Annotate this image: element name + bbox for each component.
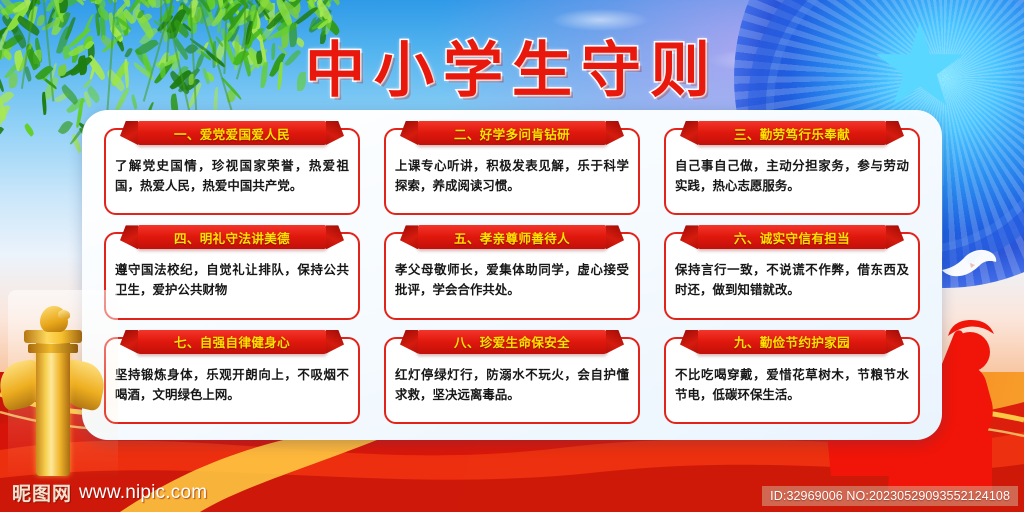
rule-heading: 三、勤劳笃行乐奉献: [734, 124, 850, 143]
watermark-logo: 昵图网: [12, 479, 72, 506]
rule-banner: 三、勤劳笃行乐奉献: [697, 121, 887, 145]
page-title: 中小学生守则: [0, 22, 1024, 109]
rule-body: 保持言行一致，不说谎不作弊，借东西及时还，做到知错就改。: [675, 260, 909, 300]
rule-banner: 九、勤俭节约护家园: [697, 330, 887, 354]
rule-body: 上课专心听讲，积极发表见解，乐于科学探索，养成阅读习惯。: [395, 156, 629, 196]
rule-card[interactable]: 九、勤俭节约护家园 不比吃喝穿戴，爱惜花草树木，节粮节水节电，低碳环保生活。: [664, 337, 920, 424]
rule-card[interactable]: 七、自强自律健身心 坚持锻炼身体，乐观开朗向上，不吸烟不喝酒，文明绿色上网。: [104, 337, 360, 424]
pillar-shaft: [36, 336, 70, 476]
rule-heading: 二、好学多问肯钻研: [454, 124, 570, 143]
rule-banner: 八、珍爱生命保安全: [417, 330, 607, 354]
pillar-cap-lower: [28, 344, 78, 353]
watermark-url: www.nipic.com: [79, 482, 207, 504]
rule-heading: 八、珍爱生命保安全: [454, 332, 570, 351]
watermark: 昵图网 www.nipic.com: [12, 479, 207, 506]
rule-body: 了解党史国情，珍视国家荣誉，热爱祖国，热爱人民，热爱中国共产党。: [115, 156, 349, 196]
rule-body: 坚持锻炼身体，乐观开朗向上，不吸烟不喝酒，文明绿色上网。: [115, 365, 349, 405]
rule-heading: 四、明礼守法讲美德: [174, 228, 290, 247]
rule-card[interactable]: 二、好学多问肯钻研 上课专心听讲，积极发表见解，乐于科学探索，养成阅读习惯。: [384, 128, 640, 215]
rule-banner: 七、自强自律健身心: [137, 330, 327, 354]
rule-heading: 六、诚实守信有担当: [734, 228, 850, 247]
rule-banner: 二、好学多问肯钻研: [417, 121, 607, 145]
rule-body: 不比吃喝穿戴，爱惜花草树木，节粮节水节电，低碳环保生活。: [675, 365, 909, 405]
poster-canvas: 中小学生守则 一、爱党爱国爱人民 了解党史国情，珍视国家荣誉，热爱祖国，热爱人民…: [0, 0, 1024, 512]
rule-card[interactable]: 四、明礼守法讲美德 遵守国法校纪，自觉礼让排队，保持公共卫生，爱护公共财物: [104, 232, 360, 319]
rule-heading: 九、勤俭节约护家园: [734, 332, 850, 351]
rules-grid: 一、爱党爱国爱人民 了解党史国情，珍视国家荣誉，热爱祖国，热爱人民，热爱中国共产…: [100, 122, 924, 430]
rule-heading: 一、爱党爱国爱人民: [174, 124, 290, 143]
rule-banner: 四、明礼守法讲美德: [137, 225, 327, 249]
rule-body: 遵守国法校纪，自觉礼让排队，保持公共卫生，爱护公共财物: [115, 260, 349, 300]
rule-card[interactable]: 一、爱党爱国爱人民 了解党史国情，珍视国家荣誉，热爱祖国，热爱人民，热爱中国共产…: [104, 128, 360, 215]
rule-heading: 七、自强自律健身心: [174, 332, 290, 351]
rule-banner: 一、爱党爱国爱人民: [137, 121, 327, 145]
rule-body: 红灯停绿灯行，防溺水不玩火，会自护懂求救，坚决远离毒品。: [395, 365, 629, 405]
rule-body: 自己事自己做，主动分担家务，参与劳动实践，热心志愿服务。: [675, 156, 909, 196]
rule-card[interactable]: 八、珍爱生命保安全 红灯停绿灯行，防溺水不玩火，会自护懂求救，坚决远离毒品。: [384, 337, 640, 424]
image-id-badge: ID:32969006 NO:20230529093552124108: [762, 486, 1018, 506]
lion-statue-icon: [40, 306, 68, 332]
rule-heading: 五、孝亲尊师善待人: [454, 228, 570, 247]
rule-card[interactable]: 六、诚实守信有担当 保持言行一致，不说谎不作弊，借东西及时还，做到知错就改。: [664, 232, 920, 319]
rule-card[interactable]: 五、孝亲尊师善待人 孝父母敬师长，爱集体助同学，虚心接受批评，学会合作共处。: [384, 232, 640, 319]
huabiao-pillar: [0, 290, 125, 480]
rule-card[interactable]: 三、勤劳笃行乐奉献 自己事自己做，主动分担家务，参与劳动实践，热心志愿服务。: [664, 128, 920, 215]
rule-body: 孝父母敬师长，爱集体助同学，虚心接受批评，学会合作共处。: [395, 260, 629, 300]
rule-banner: 六、诚实守信有担当: [697, 225, 887, 249]
rule-banner: 五、孝亲尊师善待人: [417, 225, 607, 249]
dove-icon: [940, 248, 998, 282]
